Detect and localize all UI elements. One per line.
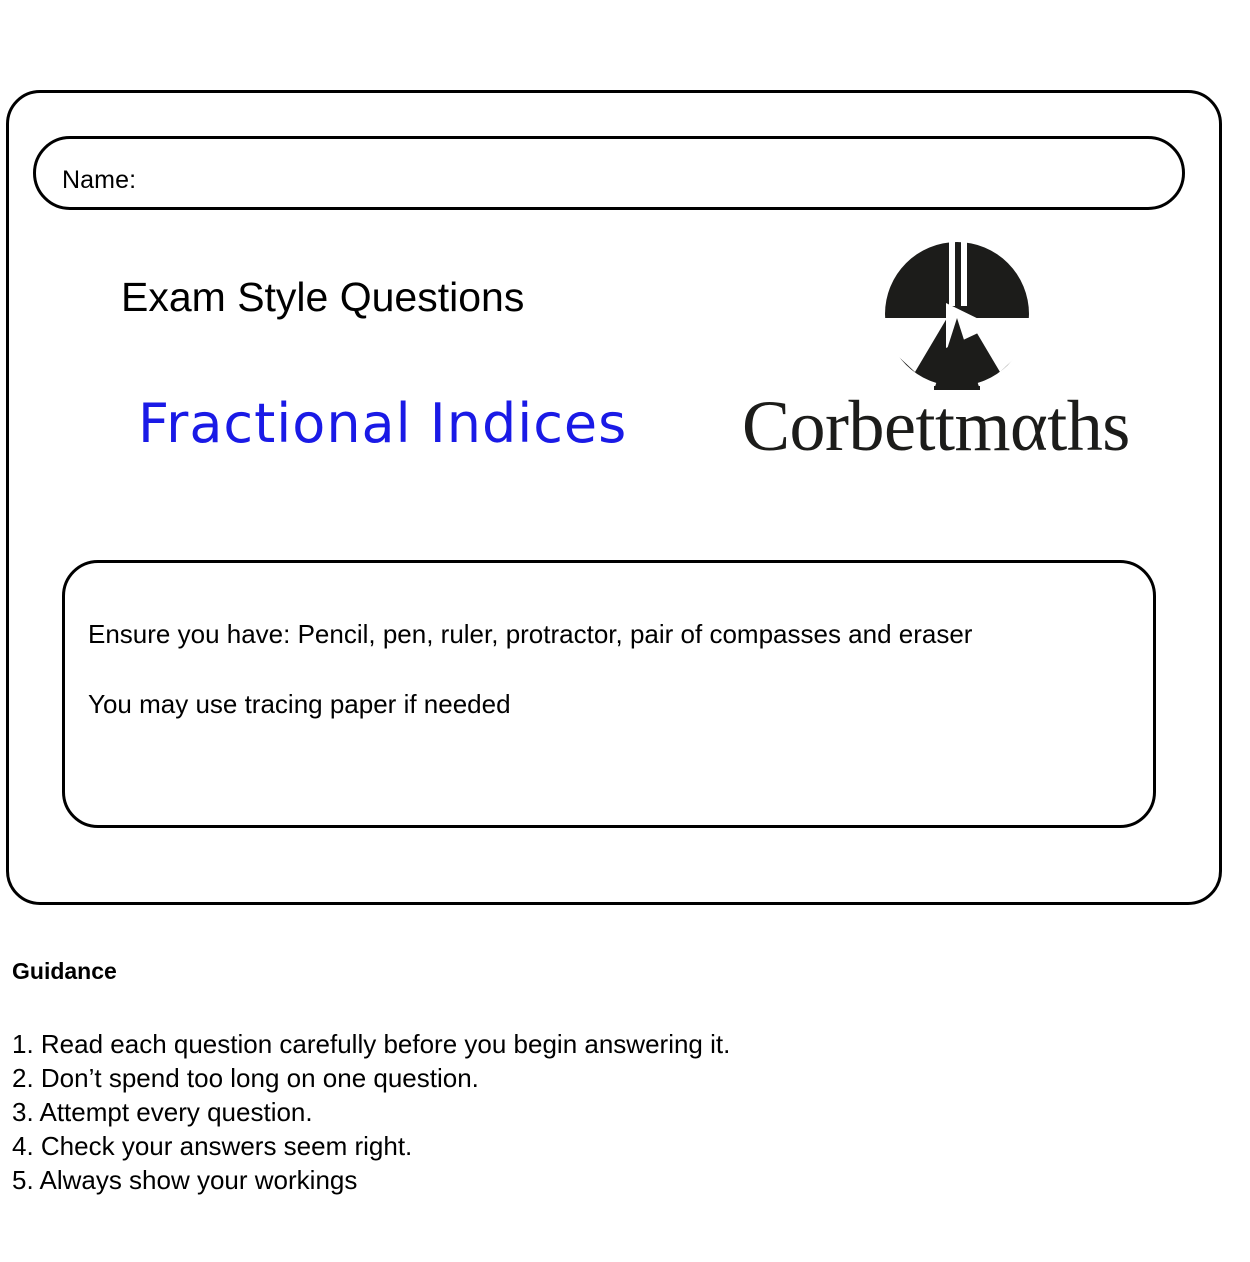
- guidance-item: 5. Always show your workings: [12, 1163, 1112, 1197]
- guidance-item: 2. Don’t spend too long on one question.: [12, 1061, 1112, 1095]
- tracing-paper-instruction-line: You may use tracing paper if needed: [88, 689, 511, 719]
- corbettmaths-wordmark: Corbettmαths: [742, 390, 1167, 462]
- guidance-heading: Guidance: [12, 957, 117, 985]
- corbettmaths-logo: Corbettmαths: [742, 240, 1167, 465]
- corbettmaths-logo-mark-icon: [885, 240, 1030, 390]
- name-field[interactable]: [33, 136, 1185, 210]
- guidance-item: 3. Attempt every question.: [12, 1095, 1112, 1129]
- equipment-instruction-line: Ensure you have: Pencil, pen, ruler, pro…: [88, 619, 972, 649]
- guidance-item: 1. Read each question carefully before y…: [12, 1027, 1112, 1061]
- worksheet-title: Fractional Indices: [138, 394, 627, 454]
- name-label: Name:: [62, 168, 136, 193]
- exam-style-questions-heading: Exam Style Questions: [121, 274, 524, 320]
- guidance-item: 4. Check your answers seem right.: [12, 1129, 1112, 1163]
- guidance-list: 1. Read each question carefully before y…: [12, 1027, 1112, 1197]
